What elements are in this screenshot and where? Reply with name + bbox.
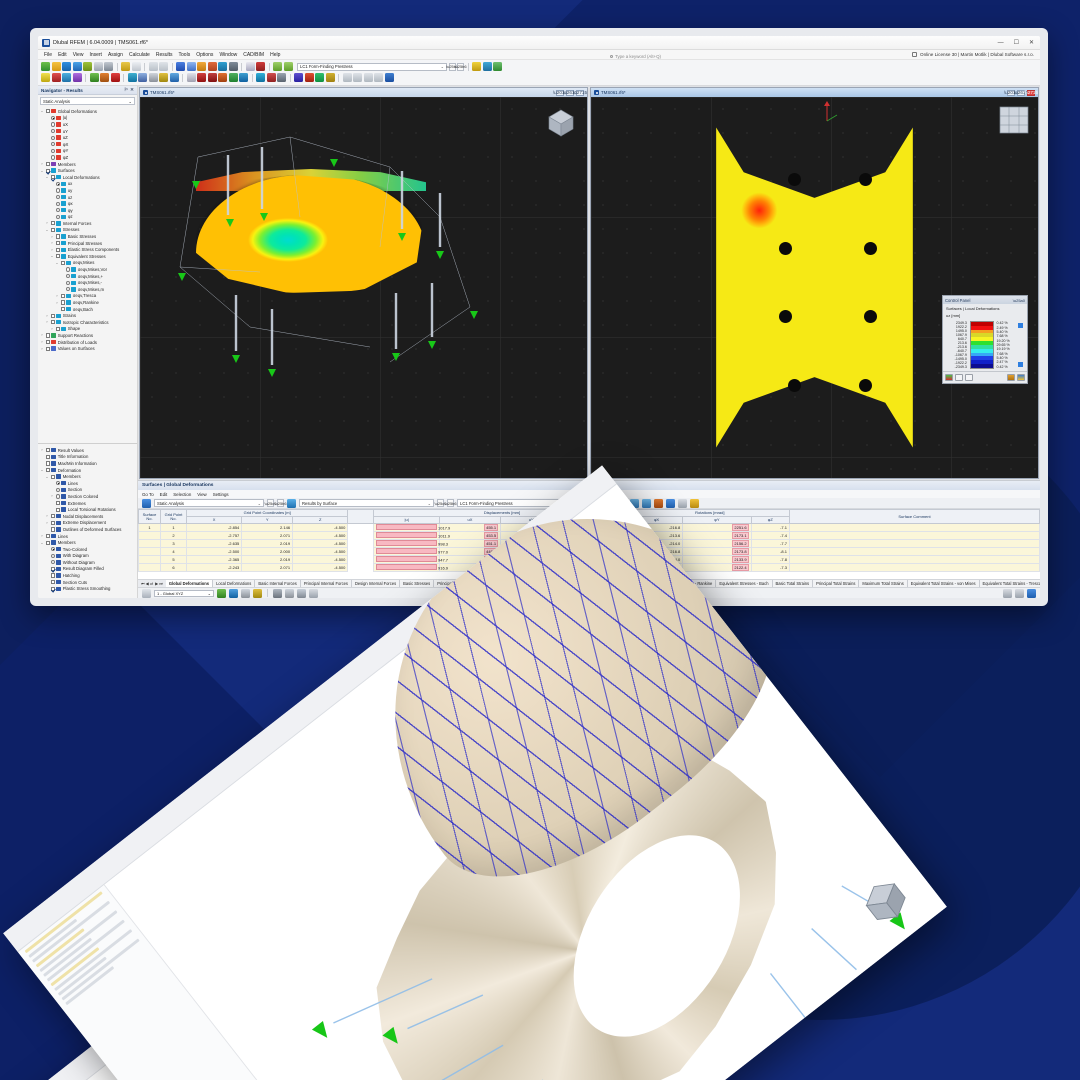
calculate-icon[interactable]: [246, 62, 255, 71]
calculate-all-icon[interactable]: [256, 62, 265, 71]
text-icon[interactable]: [353, 73, 362, 82]
cell-phi-z[interactable]: -7.4: [751, 532, 789, 540]
cell-spacer[interactable]: [348, 540, 374, 548]
menu-item-view[interactable]: View: [73, 52, 84, 58]
cell-x[interactable]: -2.500: [187, 548, 242, 556]
result-tab[interactable]: Basic Total Strains: [773, 580, 814, 588]
cell-spacer[interactable]: [348, 548, 374, 556]
cell-u[interactable]: 977.0: [374, 548, 440, 556]
ortho-icon[interactable]: [253, 589, 262, 598]
result-tab[interactable]: Equivalent Total Strains - von Mises: [908, 580, 980, 588]
tree-radio[interactable]: [56, 494, 60, 498]
expander-icon[interactable]: ⌄: [40, 169, 44, 173]
cell-x[interactable]: -2.854: [187, 524, 242, 532]
tree-node[interactable]: φz: [40, 214, 137, 221]
expander-icon[interactable]: ›: [55, 294, 59, 298]
select-member-icon[interactable]: [62, 73, 71, 82]
result-iso-icon[interactable]: [315, 73, 324, 82]
viewport-left[interactable]: TMS061.rf6* \u2014 \u2610 \u2715: [139, 87, 588, 479]
tree-checkbox[interactable]: [51, 567, 55, 571]
transparency-icon[interactable]: [297, 589, 306, 598]
maximize-icon[interactable]: ☐: [1014, 40, 1019, 46]
tree-checkbox[interactable]: [51, 573, 55, 577]
save-icon[interactable]: [73, 62, 82, 71]
tree-checkbox[interactable]: [56, 327, 60, 331]
tree-radio[interactable]: [56, 188, 60, 192]
table-analysis-combo[interactable]: Static Analysis ⌄: [154, 499, 264, 507]
render-mode-icon[interactable]: [273, 589, 282, 598]
expander-icon[interactable]: ⌄: [45, 175, 49, 179]
free-load-icon[interactable]: [218, 73, 227, 82]
tree-checkbox[interactable]: [46, 541, 50, 545]
control-panel-menu-icon[interactable]: \u25a0: [1013, 298, 1025, 303]
cell-grid-point-no[interactable]: 4: [161, 548, 187, 556]
tree-radio[interactable]: [56, 208, 60, 212]
results-by-combo[interactable]: Results by Surface ⌄: [299, 499, 434, 507]
pager-first-icon[interactable]: ⏮: [141, 581, 145, 586]
tree-radio[interactable]: [66, 267, 70, 271]
expander-icon[interactable]: ⌄: [40, 541, 44, 545]
result-tab[interactable]: Design Internal Forces: [352, 580, 400, 588]
tree-radio[interactable]: [51, 149, 55, 153]
control-panel[interactable]: Control Panel \u25a0 Surfaces | Local De…: [942, 295, 1028, 384]
tree-checkbox[interactable]: [51, 521, 55, 525]
viewport-right-canvas[interactable]: Control Panel \u25a0 Surfaces | Local De…: [591, 97, 1038, 478]
expander-icon[interactable]: ›: [50, 327, 54, 331]
cell-u[interactable]: 947.7: [374, 556, 440, 564]
result-tab[interactable]: Equivalent Stresses - Bach: [716, 580, 772, 588]
pin-icon[interactable]: ⚐: [124, 87, 128, 93]
table-menu-view[interactable]: View: [197, 492, 206, 497]
cell-y[interactable]: 2.071: [242, 532, 293, 540]
tree-node[interactable]: ›Basic Stresses: [40, 233, 137, 240]
panel-settings-icon[interactable]: [1007, 374, 1015, 381]
chevron-down-icon[interactable]: ⌄: [441, 64, 444, 69]
undo-icon[interactable]: [149, 62, 158, 71]
result-tab[interactable]: Principal Internal Forces: [301, 580, 352, 588]
cell-comment[interactable]: [790, 524, 1040, 532]
cell-y[interactable]: 2.000: [242, 548, 293, 556]
cell-surface-no[interactable]: [139, 540, 161, 548]
cell-x[interactable]: -2.365: [187, 556, 242, 564]
expander-icon[interactable]: ›: [40, 448, 44, 452]
tree-checkbox[interactable]: [61, 307, 65, 311]
tree-node[interactable]: ›Result Values: [40, 447, 137, 454]
pager-prev-icon[interactable]: ◀: [146, 581, 149, 586]
tree-checkbox[interactable]: [46, 455, 50, 459]
dimension-icon[interactable]: [343, 73, 352, 82]
tree-radio[interactable]: [51, 554, 55, 558]
cell-phi-y[interactable]: 2173.8: [683, 548, 751, 556]
chevron-down-icon[interactable]: ⌄: [128, 99, 132, 104]
tree-checkbox[interactable]: [56, 234, 60, 238]
viewport-left-titlebar[interactable]: TMS061.rf6* \u2014 \u2610 \u2715: [140, 88, 587, 97]
table-menu-goto[interactable]: Go To: [142, 492, 154, 497]
cell-spacer[interactable]: [348, 564, 374, 572]
tree-checkbox[interactable]: [46, 169, 50, 173]
cell-spacer[interactable]: [348, 532, 374, 540]
viewport-right[interactable]: TMS061.rf6* \u2014 \u2610 \u2715: [590, 87, 1039, 479]
status-view-icon-3[interactable]: [1027, 589, 1036, 598]
cell-x[interactable]: -2.635: [187, 540, 242, 548]
minimize-icon[interactable]: —: [998, 40, 1004, 46]
tree-node[interactable]: ⌄Deformation: [40, 467, 137, 474]
tree-node[interactable]: |u|: [40, 115, 137, 122]
tree-node[interactable]: ›σeqv,Rankine: [40, 299, 137, 306]
tree-node[interactable]: ›Elastic Stress Components: [40, 246, 137, 253]
viewport-right-close[interactable]: \u2715: [1027, 90, 1035, 96]
tree-node[interactable]: ⌄Local Deformations: [40, 174, 137, 181]
cell-x[interactable]: -2.243: [187, 564, 242, 572]
tree-radio[interactable]: [51, 136, 55, 140]
table-lock-icon[interactable]: [690, 499, 699, 508]
tree-node[interactable]: ⌄Equivalent Stresses: [40, 253, 137, 260]
result-tab[interactable]: Maximum Total Strains: [859, 580, 907, 588]
cell-z[interactable]: -4.500: [293, 540, 348, 548]
cell-u[interactable]: 1017.9: [374, 524, 440, 532]
tree-radio[interactable]: [56, 215, 60, 219]
filter-icon[interactable]: [256, 73, 265, 82]
tree-radio[interactable]: [56, 202, 60, 206]
cell-phi-z[interactable]: -8.1: [751, 548, 789, 556]
tree-node[interactable]: Section: [40, 487, 137, 494]
shadow-icon[interactable]: [285, 589, 294, 598]
search-placeholder[interactable]: Type a keyword (Alt+Q): [615, 54, 661, 59]
cell-surface-no[interactable]: 1: [139, 524, 161, 532]
tree-radio[interactable]: [56, 195, 60, 199]
tree-checkbox[interactable]: [56, 248, 60, 252]
expander-icon[interactable]: ⌄: [45, 228, 49, 232]
tree-node[interactable]: φX: [40, 141, 137, 148]
tree-radio[interactable]: [56, 481, 60, 485]
results-tree-top[interactable]: ⌄Global Deformations|u|uXuYuZφXφYφZ›Memb…: [38, 107, 137, 441]
tree-node[interactable]: Section Cuts: [40, 579, 137, 586]
tree-node[interactable]: Local Torsional Rotations: [40, 506, 137, 513]
status-view-icon-2[interactable]: [1015, 589, 1024, 598]
tree-node[interactable]: ›Shape: [40, 326, 137, 333]
tree-checkbox[interactable]: [51, 527, 55, 531]
menu-item-insert[interactable]: Insert: [89, 52, 102, 58]
cell-comment[interactable]: [790, 540, 1040, 548]
chevron-down-icon[interactable]: ⌄: [428, 501, 431, 506]
tree-node[interactable]: uX: [40, 121, 137, 128]
tree-node[interactable]: ›Isotropic Characteristics: [40, 319, 137, 326]
redo-icon[interactable]: [159, 62, 168, 71]
result-tab[interactable]: Basic Internal Forces: [255, 580, 300, 588]
tree-node[interactable]: φx: [40, 200, 137, 207]
cell-grid-point-no[interactable]: 3: [161, 540, 187, 548]
toolbar-area[interactable]: LC1 Form-Finding Prestress ⌄ \u25c0 \u25…: [38, 60, 1040, 86]
table-print-icon[interactable]: [678, 499, 687, 508]
load-case-next-icon[interactable]: [284, 62, 293, 71]
print-icon[interactable]: [104, 62, 113, 71]
cell-comment[interactable]: [790, 556, 1040, 564]
cell-u[interactable]: 916.9: [374, 564, 440, 572]
tree-node[interactable]: ⌄σeqv,Mises: [40, 260, 137, 267]
tree-checkbox[interactable]: [46, 461, 50, 465]
cell-x[interactable]: -2.757: [187, 532, 242, 540]
tree-radio[interactable]: [51, 122, 55, 126]
scale-handle-top[interactable]: [1018, 323, 1023, 328]
render-shaded-icon[interactable]: [197, 62, 206, 71]
result-tab[interactable]: Local Deformations: [213, 580, 255, 588]
tree-checkbox[interactable]: [56, 508, 60, 512]
expander-icon[interactable]: ›: [45, 221, 49, 225]
cell-grid-point-no[interactable]: 6: [161, 564, 187, 572]
scale-handle-bottom[interactable]: [1018, 362, 1023, 367]
cell-comment[interactable]: [790, 532, 1040, 540]
hinge-icon[interactable]: [159, 73, 168, 82]
print-preview-icon[interactable]: [94, 62, 103, 71]
tree-radio[interactable]: [66, 287, 70, 291]
tree-node[interactable]: uy: [40, 187, 137, 194]
cell-phi-z[interactable]: -7.3: [751, 564, 789, 572]
tree-node[interactable]: ›σeqv,Tresca: [40, 293, 137, 300]
tree-radio[interactable]: [51, 547, 55, 551]
window-controls[interactable]: — ☐ ✕: [998, 36, 1038, 50]
select-line-icon[interactable]: [52, 73, 61, 82]
cell-y[interactable]: 2.071: [242, 564, 293, 572]
menu-item-window[interactable]: Window: [219, 52, 237, 58]
color-scale[interactable]: 2349.31922.21495.01067.9640.7213.6-213.6…: [943, 318, 1027, 371]
expander-icon[interactable]: ›: [40, 534, 44, 538]
table-analysis-next[interactable]: \u25b6: [277, 499, 284, 507]
tree-radio[interactable]: [56, 182, 60, 186]
new-surface-icon[interactable]: [128, 73, 137, 82]
nodal-load-icon[interactable]: [187, 73, 196, 82]
tree-checkbox[interactable]: [51, 320, 55, 324]
result-surface-icon[interactable]: [294, 73, 303, 82]
tree-checkbox[interactable]: [51, 175, 55, 179]
axes-icon[interactable]: [309, 589, 318, 598]
tree-node[interactable]: Lines: [40, 480, 137, 487]
support-icon[interactable]: [149, 73, 158, 82]
tree-node[interactable]: ›Nodal Displacements: [40, 513, 137, 520]
tree-node[interactable]: ux: [40, 181, 137, 188]
tree-node[interactable]: With Diagram: [40, 553, 137, 560]
tree-node[interactable]: σeqv,Bach: [40, 306, 137, 313]
tree-radio[interactable]: [51, 142, 55, 146]
expander-icon[interactable]: ›: [55, 301, 59, 305]
cell-surface-no[interactable]: [139, 556, 161, 564]
open-icon[interactable]: [52, 62, 61, 71]
tree-node[interactable]: ›Distribution of Loads: [40, 339, 137, 346]
expander-icon[interactable]: ⌄: [50, 254, 54, 258]
result-tab[interactable]: Equivalent Total Strains - Tresca: [980, 580, 1040, 588]
select-node-icon[interactable]: [41, 73, 50, 82]
cell-phi-y[interactable]: 2173.1: [683, 532, 751, 540]
menu-item-edit[interactable]: Edit: [58, 52, 67, 58]
cell-z[interactable]: -4.500: [293, 548, 348, 556]
tree-checkbox[interactable]: [46, 534, 50, 538]
tree-node[interactable]: Without Diagram: [40, 559, 137, 566]
menu-item-cadbim[interactable]: CAD/BIM: [243, 52, 264, 58]
expander-icon[interactable]: ›: [40, 162, 44, 166]
expander-icon[interactable]: ›: [45, 314, 49, 318]
cell-y[interactable]: 2.019: [242, 540, 293, 548]
panel-legend-icon[interactable]: [1017, 374, 1025, 381]
control-panel-footer[interactable]: [943, 371, 1027, 383]
cell-z[interactable]: -4.500: [293, 524, 348, 532]
tree-node[interactable]: φZ: [40, 154, 137, 161]
analysis-type-combo[interactable]: Static Analysis ⌄: [40, 97, 135, 105]
expander-icon[interactable]: ›: [40, 347, 44, 351]
save-all-icon[interactable]: [83, 62, 92, 71]
navigator-close-icon[interactable]: ✕: [130, 87, 134, 93]
menu-item-results[interactable]: Results: [156, 52, 173, 58]
tree-checkbox[interactable]: [51, 221, 55, 225]
cell-phi-y[interactable]: 2156.2: [683, 540, 751, 548]
menu-item-assign[interactable]: Assign: [108, 52, 123, 58]
keyword-search[interactable]: Type a keyword (Alt+Q): [610, 52, 790, 60]
results-by-prev[interactable]: \u25c0: [437, 499, 444, 507]
tree-checkbox[interactable]: [46, 468, 50, 472]
status-view-icon-1[interactable]: [1003, 589, 1012, 598]
tree-checkbox[interactable]: [51, 475, 55, 479]
expander-icon[interactable]: ⌄: [40, 468, 44, 472]
info-icon[interactable]: [62, 62, 71, 71]
result-diagram-icon[interactable]: [305, 73, 314, 82]
cell-surface-no[interactable]: [139, 548, 161, 556]
tree-radio[interactable]: [66, 274, 70, 278]
expander-icon[interactable]: ⌄: [45, 475, 49, 479]
tree-checkbox[interactable]: [56, 254, 60, 258]
tree-radio[interactable]: [51, 116, 55, 120]
tree-checkbox[interactable]: [46, 109, 50, 113]
new-solid-icon[interactable]: [138, 73, 147, 82]
tree-checkbox[interactable]: [46, 448, 50, 452]
tree-node[interactable]: φy: [40, 207, 137, 214]
cell-z[interactable]: -4.500: [293, 556, 348, 564]
menu-bar[interactable]: File Edit View Insert Assign Calculate R…: [38, 50, 1040, 60]
menu-item-options[interactable]: Options: [196, 52, 213, 58]
viewport-left-close[interactable]: \u2715: [576, 90, 584, 96]
surface-load-icon[interactable]: [208, 73, 217, 82]
panel-filter-icon[interactable]: [965, 374, 973, 381]
angle-icon[interactable]: [374, 73, 383, 82]
expander-icon[interactable]: ›: [40, 333, 44, 337]
expander-icon[interactable]: ›: [40, 340, 44, 344]
expander-icon[interactable]: ›: [45, 521, 49, 525]
cell-phi-z[interactable]: -7.8: [751, 556, 789, 564]
cell-y[interactable]: 2.146: [242, 524, 293, 532]
measure-icon[interactable]: [364, 73, 373, 82]
tree-node[interactable]: Outlines of Deformed Surfaces: [40, 526, 137, 533]
tree-node[interactable]: Hatching: [40, 572, 137, 579]
close-icon[interactable]: ✕: [1029, 40, 1034, 46]
table-menu-selection[interactable]: Selection: [173, 492, 191, 497]
expander-icon[interactable]: ›: [50, 248, 54, 252]
cell-grid-point-no[interactable]: 5: [161, 556, 187, 564]
tree-node[interactable]: Two-Colored: [40, 546, 137, 553]
expander-icon[interactable]: ›: [50, 235, 54, 239]
tree-node[interactable]: ›Strains: [40, 312, 137, 319]
toolbar-row-1[interactable]: LC1 Form-Finding Prestress ⌄ \u25c0 \u25…: [41, 61, 1037, 72]
tree-node[interactable]: ⌄Members: [40, 473, 137, 480]
tree-checkbox[interactable]: [56, 501, 60, 505]
tree-checkbox[interactable]: [51, 514, 55, 518]
tree-node[interactable]: Plastic Stress Smoothing: [40, 585, 137, 592]
tree-node[interactable]: Result Diagram Filled: [40, 566, 137, 573]
expander-icon[interactable]: ⌄: [40, 109, 44, 113]
cell-comment[interactable]: [790, 564, 1040, 572]
load-case-prev-icon[interactable]: [273, 62, 282, 71]
expander-icon[interactable]: ›: [45, 320, 49, 324]
view-grid-icon[interactable]: [229, 62, 238, 71]
tree-node[interactable]: ⌄Global Deformations: [40, 108, 137, 115]
imperfection-icon[interactable]: [229, 73, 238, 82]
tree-node[interactable]: φY: [40, 148, 137, 155]
table-export-icon[interactable]: [654, 499, 663, 508]
view-plane-icon[interactable]: [996, 103, 1032, 137]
pager-last-icon[interactable]: ⏭: [159, 581, 163, 586]
menu-item-help[interactable]: Help: [270, 52, 280, 58]
coordinate-system-combo[interactable]: 1 - Global XYZ ⌄: [154, 590, 214, 597]
table-pager[interactable]: ⏮ ◀ 1 of 19 ▶ ⏭: [138, 579, 166, 587]
tree-radio[interactable]: [66, 281, 70, 285]
mesh-icon[interactable]: [170, 73, 179, 82]
result-tab[interactable]: Principal Total Strains: [813, 580, 859, 588]
tree-node[interactable]: ›Section Colored: [40, 493, 137, 500]
select-surface-icon[interactable]: [73, 73, 82, 82]
cell-z[interactable]: -4.500: [293, 564, 348, 572]
tree-node[interactable]: σeqv,Mises,-: [40, 279, 137, 286]
tree-node[interactable]: uz: [40, 194, 137, 201]
chevron-down-icon[interactable]: ⌄: [258, 501, 261, 506]
cell-y[interactable]: 2.019: [242, 556, 293, 564]
panel-colors-icon[interactable]: [945, 374, 953, 381]
cell-z[interactable]: -4.500: [293, 532, 348, 540]
menu-item-file[interactable]: File: [44, 52, 52, 58]
color-scale-slider[interactable]: [1018, 321, 1023, 369]
cell-phi-z[interactable]: -7.1: [751, 524, 789, 532]
tree-radio[interactable]: [56, 488, 60, 492]
expander-icon[interactable]: ⌄: [55, 261, 59, 265]
render-solid-icon[interactable]: [176, 62, 185, 71]
cell-surface-no[interactable]: [139, 564, 161, 572]
tree-checkbox[interactable]: [51, 228, 55, 232]
cell-spacer[interactable]: [348, 524, 374, 532]
tree-node[interactable]: σeqv,Mises,m: [40, 286, 137, 293]
tree-node[interactable]: σeqv,Mises,Vor: [40, 266, 137, 273]
tree-radio[interactable]: [51, 129, 55, 133]
tree-checkbox[interactable]: [61, 300, 65, 304]
table-analysis-prev[interactable]: \u25c0: [267, 499, 274, 507]
render-wire-icon[interactable]: [187, 62, 196, 71]
tree-node[interactable]: ›Values on Surfaces: [40, 345, 137, 352]
cell-grid-point-no[interactable]: 1: [161, 524, 187, 532]
tree-checkbox[interactable]: [46, 347, 50, 351]
results-on-icon[interactable]: [472, 62, 481, 71]
cell-ux[interactable]: 451.1: [439, 540, 500, 548]
results-tree-bottom[interactable]: ›Result ValuesTitle InformationMax/Min I…: [38, 446, 137, 598]
tree-node[interactable]: ›Members: [40, 161, 137, 168]
new-icon[interactable]: [41, 62, 50, 71]
panel-factors-icon[interactable]: [955, 374, 963, 381]
tree-node[interactable]: ⌄Stresses: [40, 227, 137, 234]
snap-grid-icon[interactable]: [241, 589, 250, 598]
new-line-icon[interactable]: [100, 73, 109, 82]
snap-line-icon[interactable]: [229, 589, 238, 598]
tree-node[interactable]: ›Lines: [40, 533, 137, 540]
tree-checkbox[interactable]: [46, 333, 50, 337]
load-case-combo[interactable]: LC1 Form-Finding Prestress ⌄: [297, 63, 447, 71]
cell-spacer[interactable]: [348, 556, 374, 564]
table-sync-icon[interactable]: [642, 499, 651, 508]
table-menu-settings[interactable]: Settings: [213, 492, 229, 497]
cell-phi-y[interactable]: 2133.9: [683, 556, 751, 564]
tree-node[interactable]: Title Information: [40, 454, 137, 461]
